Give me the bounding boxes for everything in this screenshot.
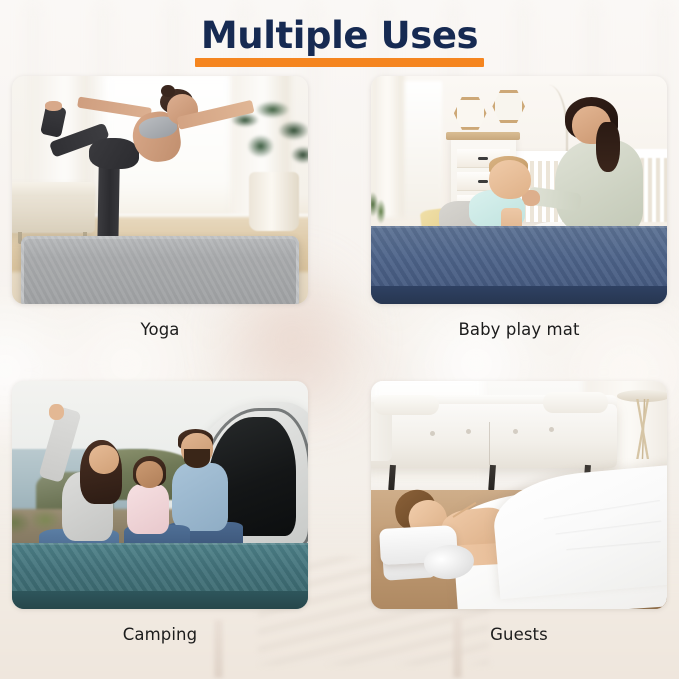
yoga-ottoman-cushion [12,182,95,196]
camping-girl-body [127,484,168,534]
use-case-panel-yoga[interactable]: Yoga [12,76,308,340]
yoga-woman-hair-bun [161,85,175,97]
nursery-plant [371,190,389,226]
guests-sofa-tuft [549,427,554,432]
panel-caption-camping: Camping [12,625,308,645]
camping-mother-pointing-hand [49,404,64,420]
teal-mat-edge [12,591,308,609]
blue-mat-edge [371,286,667,304]
yoga-mat-texture [21,236,299,304]
use-case-grid: Yoga [12,76,667,666]
camping-father-body [172,463,228,531]
camping-father-beard [184,449,211,467]
panel-caption-guests: Guests [371,625,667,645]
guests-sofa-bolster-cushion [374,395,439,416]
nursery-scene [371,76,667,304]
camping-photo[interactable] [12,381,308,609]
yoga-woman-hips [89,138,139,170]
guests-sofa-tuft [466,429,471,434]
title-inner: Multiple Uses [195,14,484,67]
camping-girl-head [136,461,163,488]
guests-sofa-seat-divider [489,422,490,465]
title-underline-accent [195,58,484,67]
page-title: Multiple Uses [201,14,478,58]
nursery-drawer-knob [478,180,488,183]
use-case-panel-camping[interactable]: Camping [12,381,308,645]
guests-side-table-legs [620,399,667,458]
multiple-uses-poster: Multiple Uses [0,0,679,679]
baby-play-mat-photo[interactable] [371,76,667,304]
guests-sofa-bolster-cushion [543,392,608,413]
camping-scene [12,381,308,609]
guests-sofa-tuft [513,429,518,434]
yoga-scene [12,76,308,304]
nursery-drawer-knob [478,157,488,160]
baby-head [489,160,530,199]
nursery-dresser-top [446,132,520,140]
use-case-panel-guests[interactable]: Guests [371,381,667,645]
mother-hair-strand [596,122,620,172]
guests-scene [371,381,667,609]
yoga-photo[interactable] [12,76,308,304]
use-case-panel-baby-play-mat[interactable]: Baby play mat [371,76,667,340]
guests-photo[interactable] [371,381,667,609]
camping-mother-head [89,445,119,475]
panel-caption-baby-play-mat: Baby play mat [371,320,667,340]
title-block: Multiple Uses [0,14,679,67]
panel-caption-yoga: Yoga [12,320,308,340]
yoga-woman-back-foot [45,101,63,111]
